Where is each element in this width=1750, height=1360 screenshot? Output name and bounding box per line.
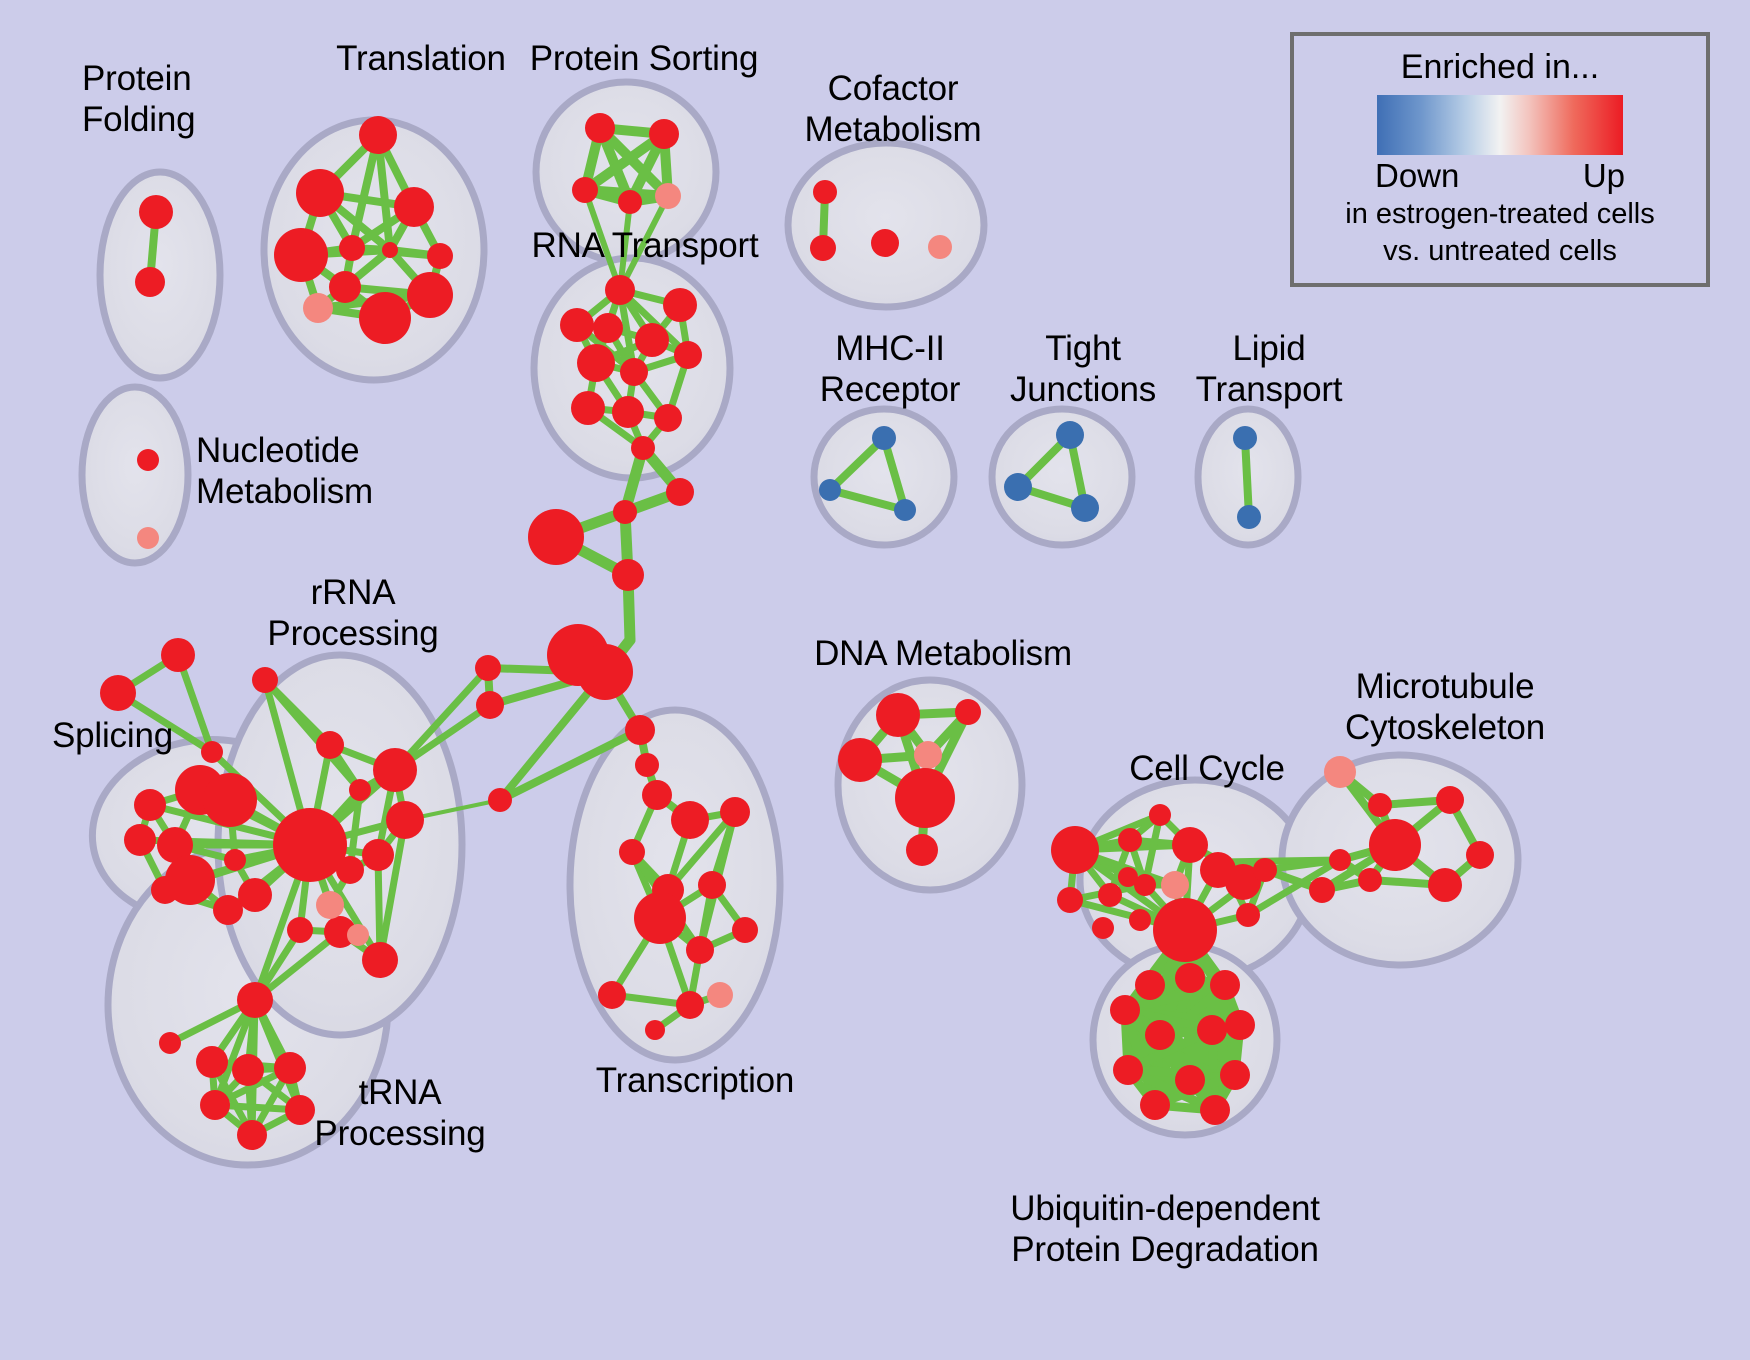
node: [296, 169, 344, 217]
node: [676, 991, 704, 1019]
node: [1329, 849, 1351, 871]
node: [475, 655, 501, 681]
node: [273, 808, 347, 882]
node: [1153, 898, 1217, 962]
node: [100, 675, 136, 711]
node: [1004, 473, 1032, 501]
node: [274, 228, 328, 282]
node: [645, 1020, 665, 1040]
node: [813, 180, 837, 204]
node: [362, 942, 398, 978]
legend-high-label: Up: [1583, 157, 1625, 195]
node: [238, 878, 272, 912]
node: [620, 358, 648, 386]
node: [871, 229, 899, 257]
node: [382, 242, 398, 258]
node: [1118, 867, 1138, 887]
node: [224, 849, 246, 871]
node: [347, 924, 369, 946]
node: [666, 478, 694, 506]
node: [124, 824, 156, 856]
node: [394, 187, 434, 227]
node: [303, 293, 333, 323]
node: [914, 741, 942, 769]
node: [1071, 494, 1099, 522]
node: [1436, 786, 1464, 814]
legend-title: Enriched in...: [1401, 48, 1599, 87]
node: [707, 982, 733, 1008]
node: [577, 344, 615, 382]
node: [612, 559, 644, 591]
node: [663, 288, 697, 322]
node: [237, 982, 273, 1018]
node: [585, 113, 615, 143]
node: [649, 119, 679, 149]
node: [1200, 1095, 1230, 1125]
node: [1113, 1055, 1143, 1085]
node: [151, 876, 179, 904]
node: [577, 644, 633, 700]
node: [349, 779, 371, 801]
legend-box: Enriched in... Down Up in estrogen-treat…: [1290, 32, 1710, 287]
node: [1210, 970, 1240, 1000]
node: [1057, 887, 1083, 913]
legend-subtitle-line2: vs. untreated cells: [1383, 234, 1617, 269]
node: [1110, 995, 1140, 1025]
node: [1175, 963, 1205, 993]
node: [1129, 909, 1151, 931]
node: [1368, 793, 1392, 817]
node: [634, 892, 686, 944]
node: [232, 1054, 264, 1086]
cluster-label-lipid-transport: Lipid Transport: [1174, 328, 1364, 410]
node: [1145, 1020, 1175, 1050]
node: [362, 839, 394, 871]
node: [137, 449, 159, 471]
node: [200, 1090, 230, 1120]
cluster-label-rrna-processing: rRNA Processing: [248, 572, 458, 654]
node: [671, 801, 709, 839]
node: [1118, 828, 1142, 852]
node: [528, 509, 584, 565]
node: [631, 436, 655, 460]
node: [1369, 819, 1421, 871]
node: [1161, 871, 1189, 899]
node: [635, 753, 659, 777]
node: [1056, 421, 1084, 449]
node: [252, 667, 278, 693]
node: [654, 404, 682, 432]
cluster-label-cell-cycle: Cell Cycle: [1102, 748, 1312, 789]
node: [894, 499, 916, 521]
node: [1236, 903, 1260, 927]
node: [819, 479, 841, 501]
node: [359, 116, 397, 154]
node: [1253, 858, 1277, 882]
node: [612, 396, 644, 428]
node: [1237, 505, 1261, 529]
cluster-label-rna-transport: RNA Transport: [500, 225, 790, 266]
node: [618, 190, 642, 214]
node: [1233, 426, 1257, 450]
node: [1175, 1065, 1205, 1095]
node: [134, 789, 166, 821]
node: [373, 748, 417, 792]
cluster-label-trna-processing: tRNA Processing: [300, 1072, 500, 1154]
node: [359, 292, 411, 344]
node: [732, 917, 758, 943]
node: [407, 272, 453, 318]
hull-cofactor-metabolism: [788, 143, 984, 307]
cluster-label-mhc-ii-receptor: MHC-II Receptor: [790, 328, 990, 410]
node: [203, 773, 257, 827]
node: [1309, 877, 1335, 903]
legend-low-label: Down: [1375, 157, 1459, 195]
node: [1098, 883, 1122, 907]
cluster-label-nucleotide-metabolism: Nucleotide Metabolism: [196, 430, 456, 512]
node: [613, 500, 637, 524]
node: [674, 341, 702, 369]
node: [1140, 1090, 1170, 1120]
node: [1051, 826, 1099, 874]
node: [686, 936, 714, 964]
node: [810, 235, 836, 261]
node: [698, 871, 726, 899]
hull-nucleotide-metabolism: [82, 387, 188, 563]
node: [1149, 804, 1171, 826]
cluster-label-protein-sorting: Protein Sorting: [494, 38, 794, 79]
node: [605, 275, 635, 305]
node: [1172, 827, 1208, 863]
legend-endpoints: Down Up: [1375, 157, 1625, 195]
node: [1225, 1010, 1255, 1040]
node: [386, 801, 424, 839]
node: [213, 895, 243, 925]
legend-subtitle-line1: in estrogen-treated cells: [1345, 197, 1655, 232]
cluster-label-ubiquitin-protein-degradation: Ubiquitin-dependent Protein Degradation: [985, 1188, 1345, 1270]
node: [476, 691, 504, 719]
node: [488, 788, 512, 812]
node: [1428, 868, 1462, 902]
node: [135, 267, 165, 297]
node: [137, 527, 159, 549]
cluster-label-tight-junctions: Tight Junctions: [988, 328, 1178, 410]
node: [906, 834, 938, 866]
node: [720, 797, 750, 827]
node: [237, 1120, 267, 1150]
node: [316, 731, 344, 759]
node: [872, 426, 896, 450]
color-scale-bar: [1377, 95, 1623, 155]
node: [876, 693, 920, 737]
node: [1324, 756, 1356, 788]
node: [619, 839, 645, 865]
cluster-label-protein-folding: Protein Folding: [82, 58, 282, 140]
node: [1197, 1015, 1227, 1045]
node: [329, 271, 361, 303]
node: [593, 313, 623, 343]
node: [571, 391, 605, 425]
node: [625, 715, 655, 745]
node: [560, 308, 594, 342]
cluster-label-transcription: Transcription: [570, 1060, 820, 1101]
node: [427, 243, 453, 269]
cluster-label-microtubule-cytoskeleton: Microtubule Cytoskeleton: [1300, 666, 1590, 748]
cluster-label-cofactor-metabolism: Cofactor Metabolism: [778, 68, 1008, 150]
node: [287, 917, 313, 943]
node: [635, 323, 669, 357]
node: [642, 780, 672, 810]
node: [139, 195, 173, 229]
node: [598, 981, 626, 1009]
node: [838, 738, 882, 782]
node: [655, 183, 681, 209]
node: [1466, 841, 1494, 869]
node: [1135, 970, 1165, 1000]
enrichment-map-figure: Protein Folding Translation Protein Sort…: [0, 0, 1750, 1360]
node: [1358, 868, 1382, 892]
node: [572, 177, 598, 203]
node: [895, 768, 955, 828]
node: [1092, 917, 1114, 939]
cluster-label-splicing: Splicing: [52, 715, 232, 756]
node: [159, 1032, 181, 1054]
node: [316, 891, 344, 919]
node: [196, 1046, 228, 1078]
node: [161, 638, 195, 672]
node: [1220, 1060, 1250, 1090]
node: [955, 699, 981, 725]
cluster-label-dna-metabolism: DNA Metabolism: [808, 633, 1078, 674]
node: [339, 235, 365, 261]
node: [928, 235, 952, 259]
